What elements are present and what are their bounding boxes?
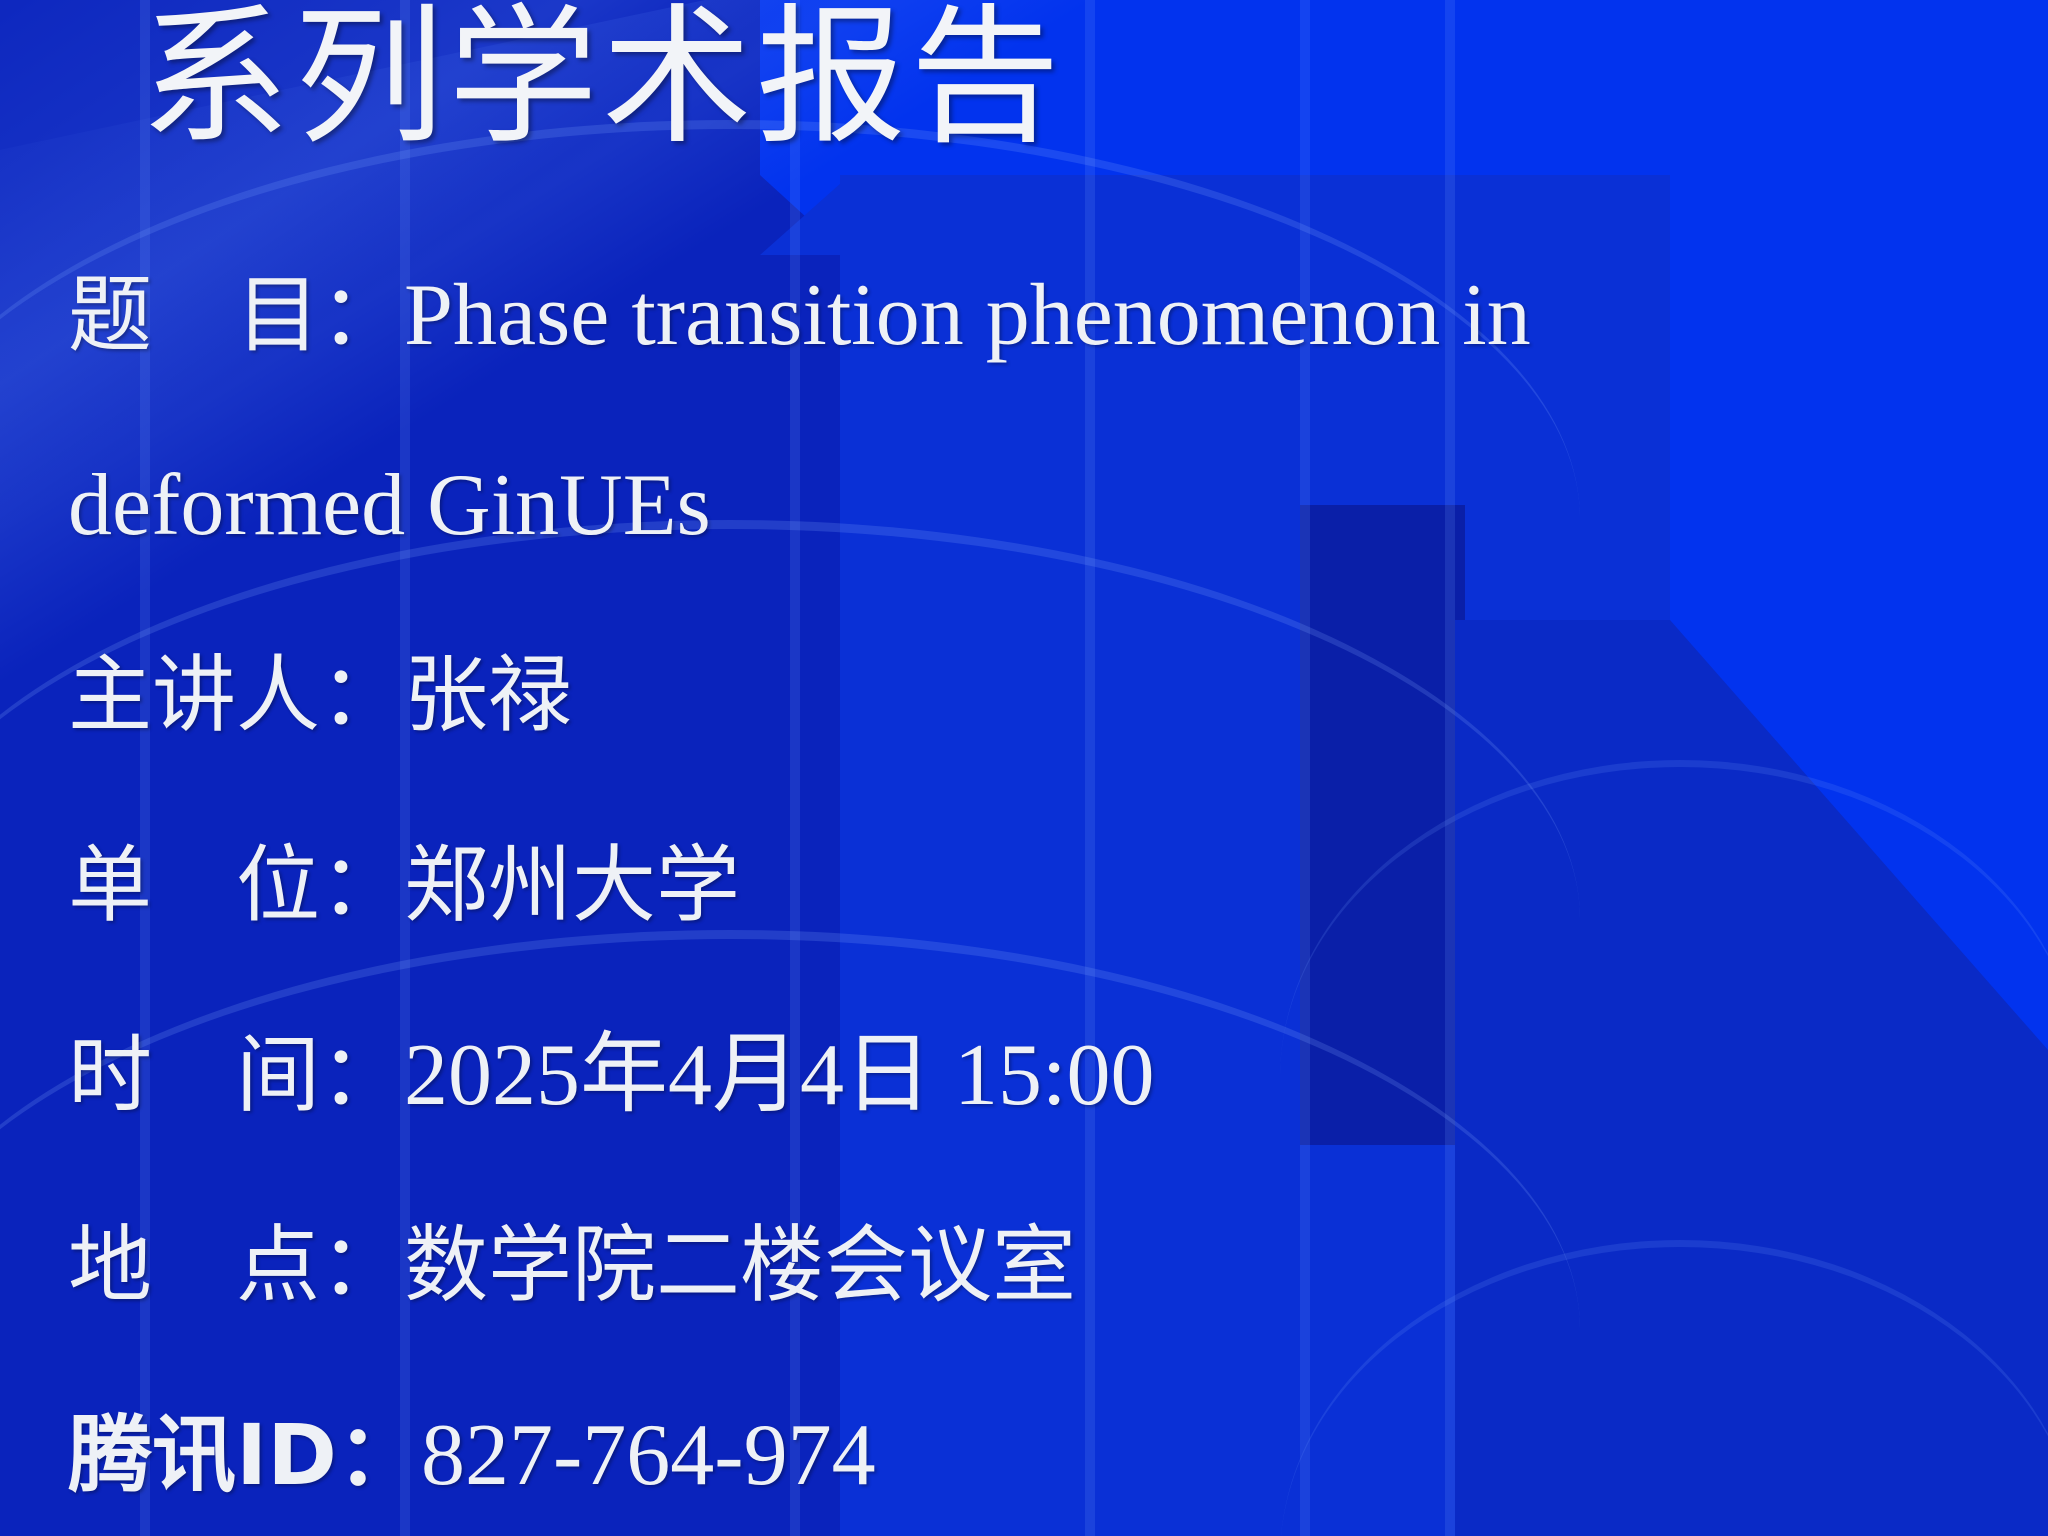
detail-value-affiliation: 郑州大学 (404, 836, 740, 934)
detail-value-speaker: 张禄 (404, 646, 572, 744)
page-title: 系列学术报告 (140, 0, 1064, 161)
detail-row-speaker: 主讲人：张禄 (68, 648, 1868, 838)
detail-row-tencent-id: 腾讯ID：827-764-974 (68, 1408, 1868, 1536)
detail-label-speaker: 主讲人： (68, 646, 404, 744)
detail-label-time: 时 间： (68, 1026, 404, 1124)
slide-content: 系列学术报告 题 目：Phase transition phenomenon i… (0, 0, 2048, 1536)
detail-row-affiliation: 单 位：郑州大学 (68, 838, 1868, 1028)
announcement-slide: 系列学术报告 题 目：Phase transition phenomenon i… (0, 0, 2048, 1536)
detail-row-topic-continued: deformed GinUEs (68, 458, 1868, 648)
detail-value-tencent-id: 827-764-974 (421, 1407, 876, 1504)
detail-label-affiliation: 单 位： (68, 836, 404, 934)
detail-row-venue: 地 点：数学院二楼会议室 (68, 1218, 1868, 1408)
detail-value-venue: 数学院二楼会议室 (404, 1216, 1076, 1314)
detail-label-venue: 地 点： (68, 1216, 404, 1314)
detail-value-time: 2025年4月4日 15:00 (404, 1027, 1154, 1124)
detail-value-topic-line1: Phase transition phenomenon in (404, 267, 1531, 364)
detail-row-time: 时 间：2025年4月4日 15:00 (68, 1028, 1868, 1218)
detail-value-topic-line2: deformed GinUEs (68, 457, 711, 554)
announcement-details-list: 题 目：Phase transition phenomenon in defor… (68, 268, 1868, 1536)
detail-label-topic: 题 目： (68, 266, 404, 364)
detail-row-topic: 题 目：Phase transition phenomenon in (68, 268, 1868, 458)
detail-label-tencent-id: 腾讯ID： (68, 1406, 421, 1504)
